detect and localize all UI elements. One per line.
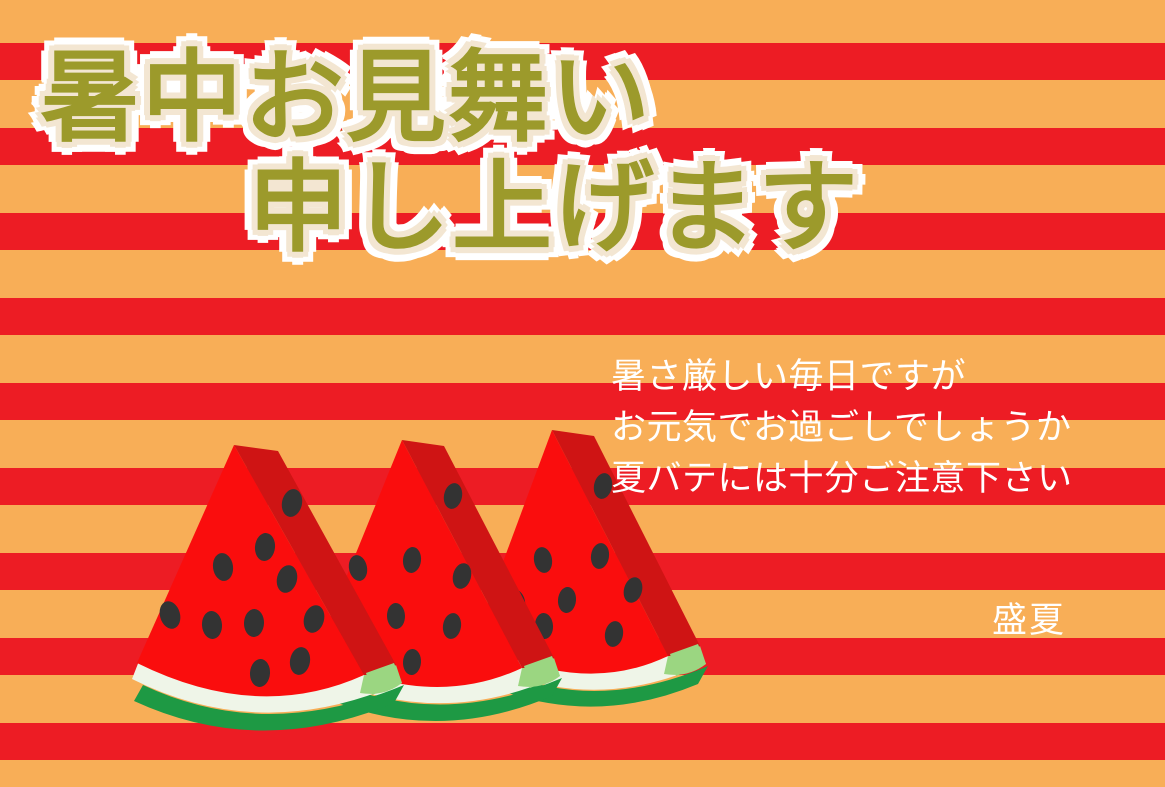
message-line-3: 夏バテには十分ご注意下さい	[611, 454, 1131, 505]
greeting-card: 暑中お見舞い 申し上げます 暑さ厳しい毎日ですが お元気でお過ごしでしょうか 夏…	[0, 0, 1165, 787]
headline-line-1: 暑中お見舞い	[40, 48, 652, 148]
headline-line-2: 申し上げます	[248, 158, 860, 258]
headline-block: 暑中お見舞い 申し上げます	[0, 0, 1165, 300]
message-block: 暑さ厳しい毎日ですが お元気でお過ごしでしょうか 夏バテには十分ご注意下さい	[611, 352, 1131, 505]
signature-text: 盛夏	[992, 601, 1066, 641]
message-line-1: 暑さ厳しい毎日ですが	[611, 352, 1131, 403]
message-line-2: お元気でお過ごしでしょうか	[611, 403, 1131, 454]
